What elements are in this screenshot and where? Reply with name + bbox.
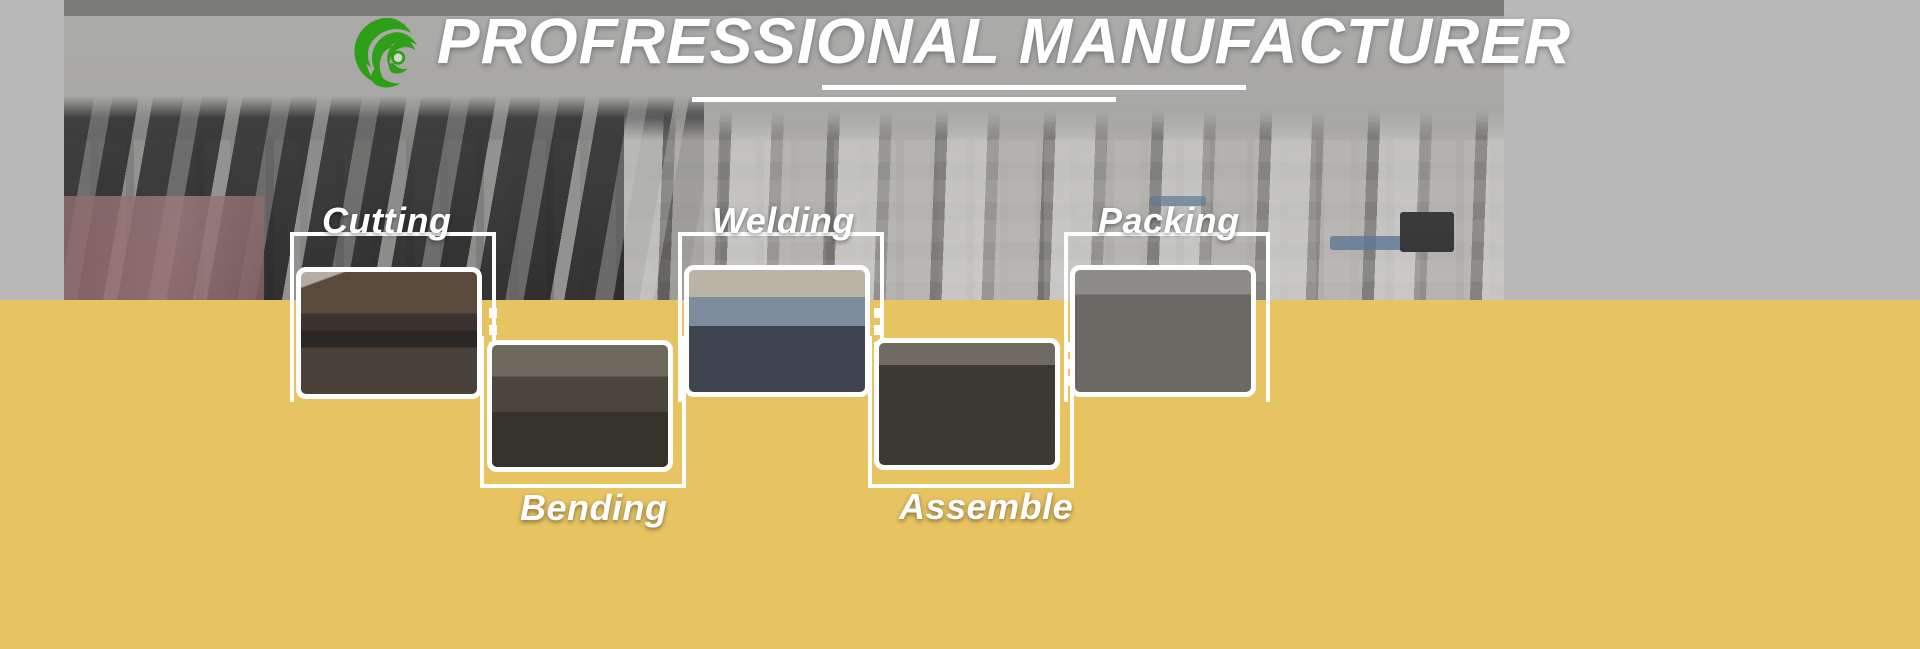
bending-thumbnail <box>492 345 668 467</box>
step-label-cutting: Cutting <box>322 200 451 242</box>
step-label-assemble: Assemble <box>899 486 1073 528</box>
step-image-welding[interactable] <box>684 265 870 397</box>
step-image-bending[interactable] <box>487 340 673 472</box>
step-label-bending: Bending <box>520 487 667 529</box>
welding-thumbnail <box>689 270 865 392</box>
step-image-cutting[interactable] <box>296 267 482 399</box>
step-label-welding: Welding <box>712 200 855 242</box>
step-image-packing[interactable] <box>1070 265 1256 397</box>
step-image-assemble[interactable] <box>874 338 1060 470</box>
process-steps: Cutting Bending Welding <box>0 0 1920 649</box>
step-label-packing: Packing <box>1098 200 1240 242</box>
cutting-thumbnail <box>301 272 477 394</box>
packing-thumbnail <box>1075 270 1251 392</box>
promo-banner: PROFRESSIONAL MANUFACTURER Cutting Bendi… <box>0 0 1920 649</box>
assemble-thumbnail <box>879 343 1055 465</box>
